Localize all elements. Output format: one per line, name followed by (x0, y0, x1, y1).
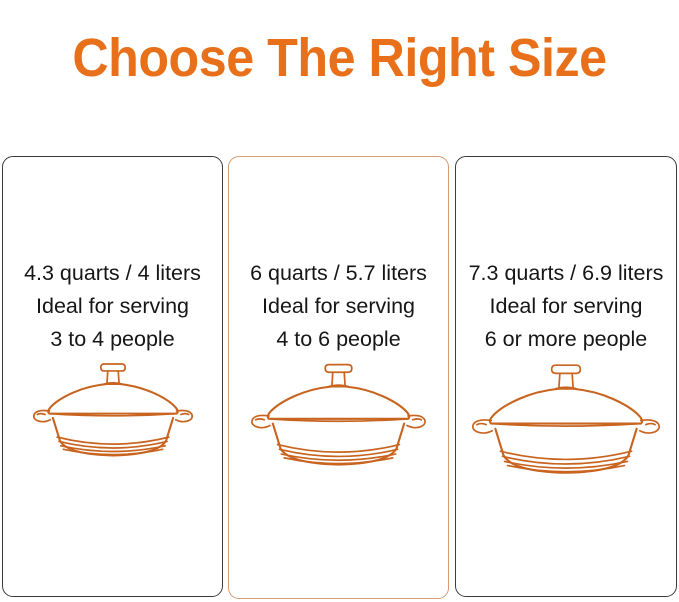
capacity-label: 7.3 quarts / 6.9 liters (456, 257, 676, 290)
dutch-oven-illustration (456, 357, 676, 484)
dutch-oven-illustration (3, 357, 222, 465)
serving-count-label: 4 to 6 people (229, 323, 448, 356)
size-card-text: 7.3 quarts / 6.9 liters Ideal for servin… (456, 257, 676, 356)
dutch-oven-illustration (229, 357, 448, 475)
serving-label: Ideal for serving (229, 290, 448, 323)
dutch-oven-icon (242, 357, 435, 475)
size-card-6-quart[interactable]: 6 quarts / 5.7 liters Ideal for serving … (228, 156, 449, 599)
capacity-label: 6 quarts / 5.7 liters (229, 257, 448, 290)
size-card-text: 6 quarts / 5.7 liters Ideal for serving … (229, 257, 448, 356)
size-card-7-3-quart[interactable]: 7.3 quarts / 6.9 liters Ideal for servin… (455, 156, 677, 597)
capacity-label: 4.3 quarts / 4 liters (3, 257, 222, 290)
serving-count-label: 3 to 4 people (3, 323, 222, 356)
dutch-oven-icon (462, 357, 670, 484)
size-card-text: 4.3 quarts / 4 liters Ideal for serving … (3, 257, 222, 356)
serving-label: Ideal for serving (3, 290, 222, 323)
serving-label: Ideal for serving (456, 290, 676, 323)
serving-count-label: 6 or more people (456, 323, 676, 356)
size-card-group: 4.3 quarts / 4 liters Ideal for serving … (0, 0, 679, 602)
size-card-4-3-quart[interactable]: 4.3 quarts / 4 liters Ideal for serving … (2, 156, 223, 597)
dutch-oven-icon (25, 357, 201, 465)
